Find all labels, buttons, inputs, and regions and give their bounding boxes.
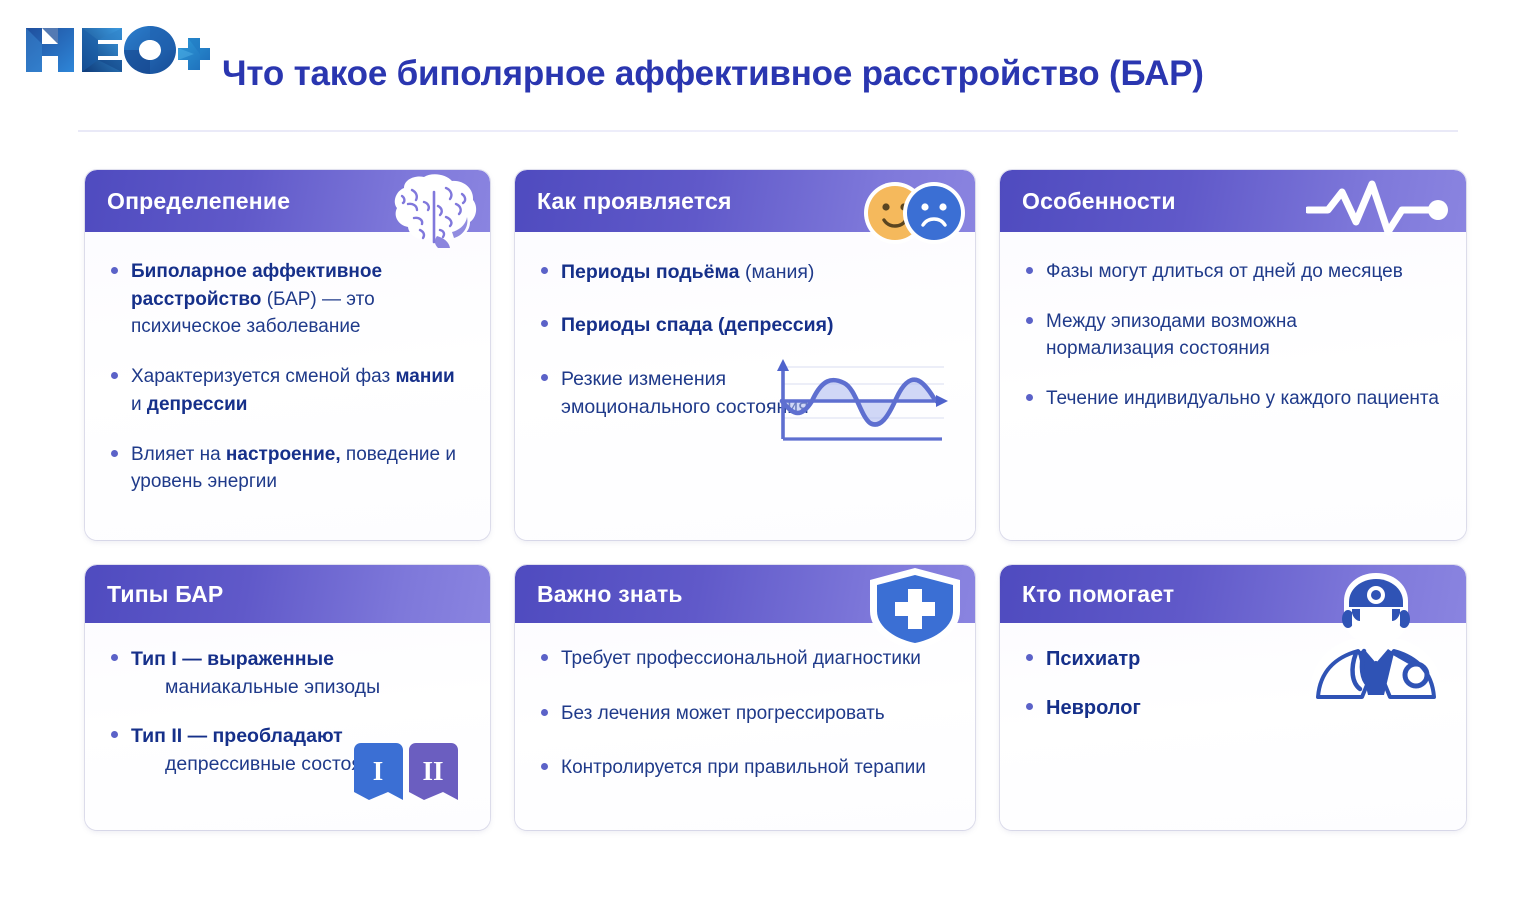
list-item: Без лечения может прогрессировать <box>537 700 953 728</box>
svg-text:I: I <box>373 756 384 786</box>
card-title: Типы БАР <box>107 581 223 608</box>
card-title: Определепение <box>107 188 290 215</box>
list-item: Требует профессиональной диагностики <box>537 645 953 673</box>
list-item: Характеризуется сменой фаз мании и депре… <box>107 363 468 418</box>
list-item: Тип I — выраженныеманиакальные эпизоды <box>107 645 468 702</box>
cards-grid: Определепение Биполарное аффективное рас… <box>85 170 1457 830</box>
card-opredelenie: Определепение Биполарное аффективное рас… <box>85 170 490 540</box>
card-header: Особенности <box>1000 170 1466 232</box>
card-header: Кто помогает <box>1000 565 1466 623</box>
list-item: Фазы могут длиться от дней до месяцев <box>1022 258 1444 286</box>
infographic-page: Что такое биполярное аффективное расстро… <box>0 0 1536 922</box>
card-vazhno-znat: Важно знать Требует профессиональной диа… <box>515 565 975 830</box>
card-body: Фазы могут длиться от дней до месяцев Ме… <box>1000 232 1466 445</box>
list-item: Течение индивидуально у каждого пациента <box>1022 385 1444 413</box>
list-item: Психиатр <box>1022 645 1444 674</box>
list-item: Биполарное аффективное расстройство (БАР… <box>107 258 468 341</box>
mood-wave-chart-icon <box>766 355 951 450</box>
card-title: Особенности <box>1022 188 1176 215</box>
card-osobennosti: Особенности Фазы могут длиться от дней д… <box>1000 170 1466 540</box>
card-body: Биполарное аффективное расстройство (БАР… <box>85 232 490 528</box>
card-title: Важно знать <box>537 581 683 608</box>
list-item: Периоды подьёма (мания) <box>537 258 953 286</box>
card-title: Кто помогает <box>1022 581 1174 608</box>
bullet-list: Психиатр Невролог <box>1022 645 1444 723</box>
header-divider <box>78 130 1458 132</box>
list-item: Невролог <box>1022 694 1444 723</box>
roman-numeral-badges-icon: I II <box>352 742 460 810</box>
card-body: Требует профессиональной диагностики Без… <box>515 623 975 819</box>
list-item: Периоды спада (депрессия) <box>537 311 953 339</box>
card-body: Психиатр Невролог <box>1000 623 1466 753</box>
list-item: Влияет на настроение, поведение и уровен… <box>107 441 468 496</box>
card-header: Важно знать <box>515 565 975 623</box>
list-item: Между эпизодами возможна нормализация со… <box>1022 308 1346 363</box>
card-kto-pomogaet: Кто помогает Психиатр Невролог <box>1000 565 1466 830</box>
card-kak-proyavlyaetsya: Как проявляется Периоды подьёма (мания) … <box>515 170 975 540</box>
card-tipy-bar: Типы БАР Тип I — выраженныеманиакальные … <box>85 565 490 830</box>
neo-plus-logo-icon <box>14 18 214 80</box>
card-header: Определепение <box>85 170 490 232</box>
card-header: Как проявляется <box>515 170 975 232</box>
bullet-list: Биполарное аффективное расстройство (БАР… <box>107 258 468 496</box>
page-title: Что такое биполярное аффективное расстро… <box>222 54 1204 94</box>
bullet-list: Фазы могут длиться от дней до месяцев Ме… <box>1022 258 1444 413</box>
bullet-list: Требует профессиональной диагностики Без… <box>537 645 953 782</box>
card-title: Как проявляется <box>537 188 732 215</box>
list-item: Контролируется при правильной терапии <box>537 754 953 782</box>
card-header: Типы БАР <box>85 565 490 623</box>
svg-text:II: II <box>422 756 443 786</box>
